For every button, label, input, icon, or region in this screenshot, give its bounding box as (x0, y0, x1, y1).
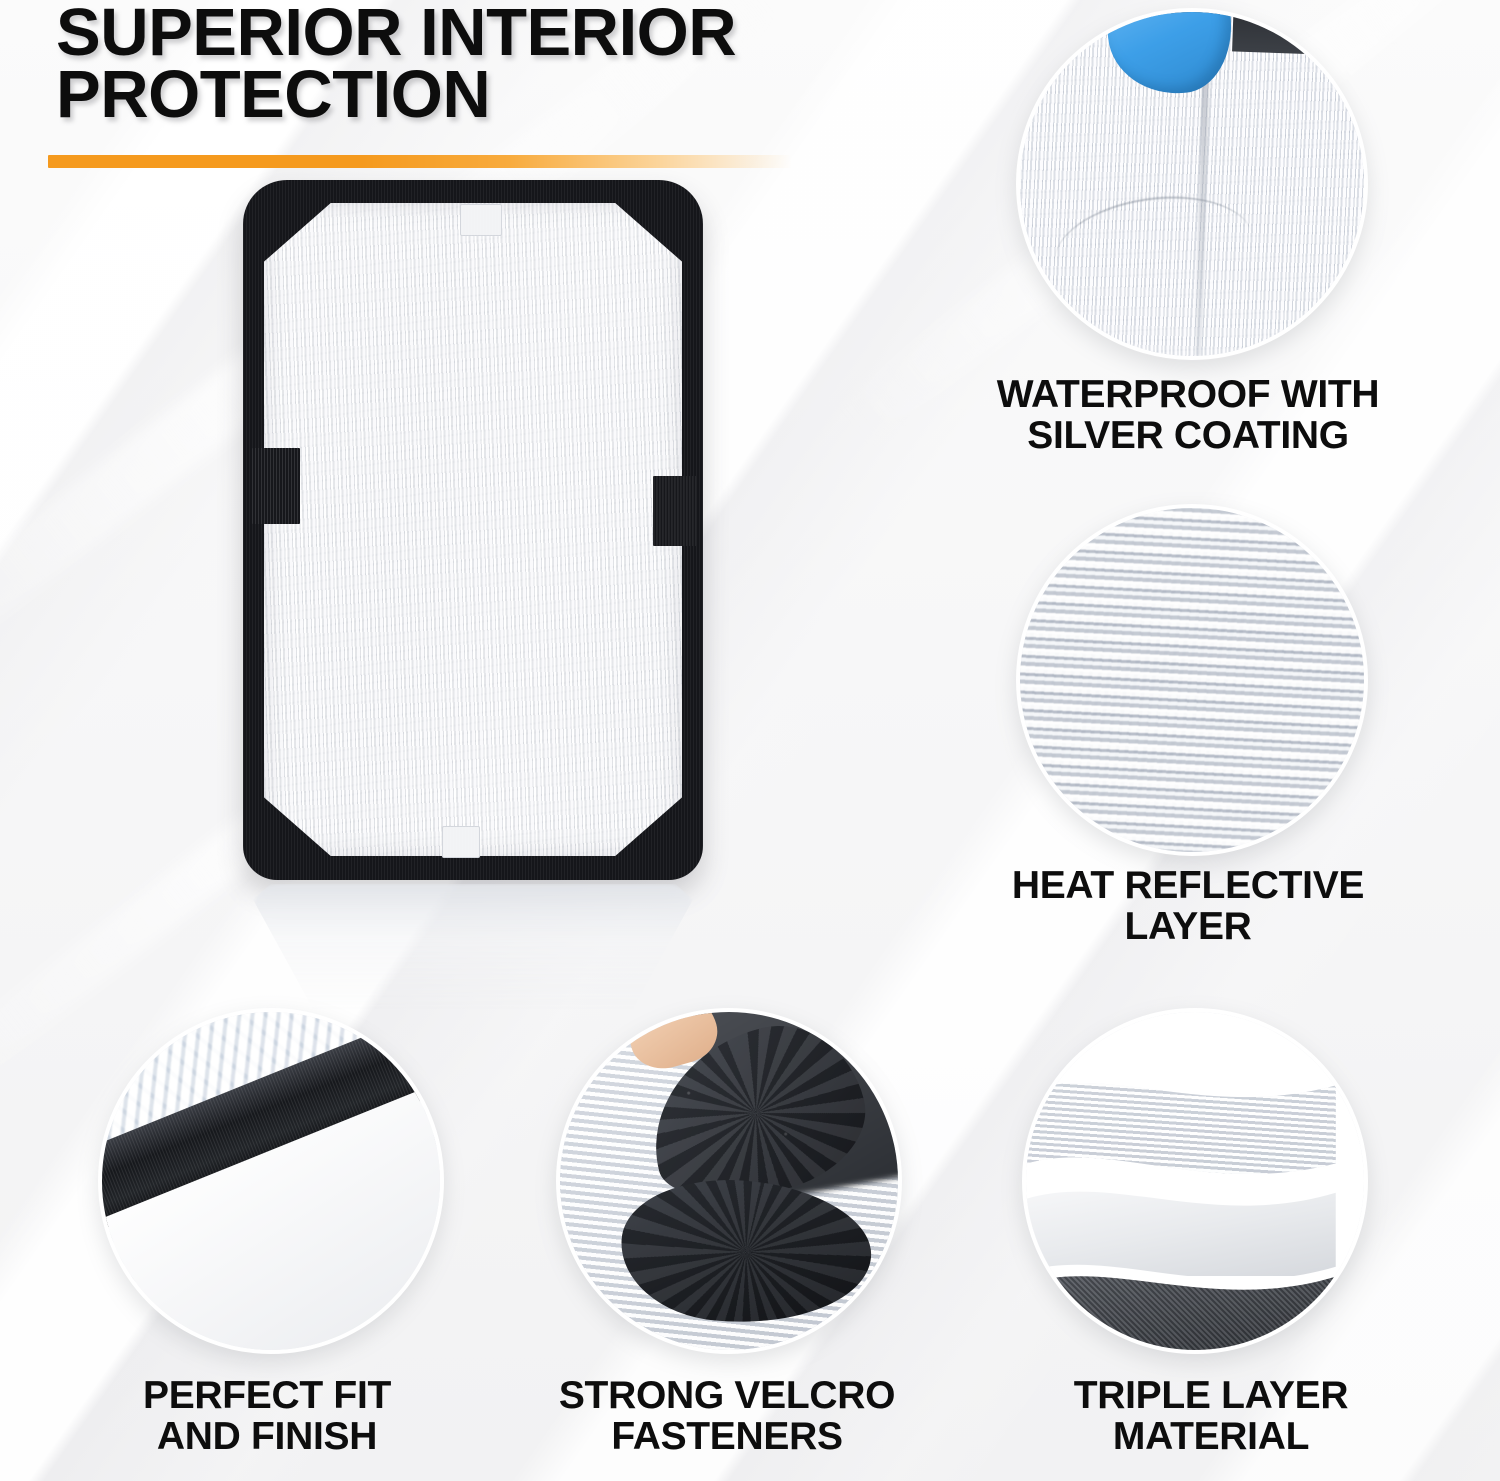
feature-caption-triple-layer: TRIPLE LAYER MATERIAL (1020, 1376, 1402, 1457)
page-title: SUPERIOR INTERIOR PROTECTION (56, 2, 936, 125)
feature-image-heat-reflective (1016, 504, 1368, 856)
feature-caption-velcro: STRONG VELCRO FASTENERS (512, 1376, 942, 1457)
sunshade-foil-panel (264, 203, 682, 856)
product-image (243, 180, 703, 880)
velcro-tab-left (252, 448, 300, 524)
page-title-line-1: SUPERIOR INTERIOR (56, 2, 936, 64)
caption-line-2: SILVER COATING (960, 416, 1416, 457)
caption-line-2: AND FINISH (60, 1417, 474, 1458)
stitch-tab-top (460, 204, 502, 236)
feature-caption-heat-reflective: HEAT REFLECTIVE LAYER (960, 866, 1416, 947)
sunshade-body (243, 180, 703, 880)
caption-line-2: FASTENERS (512, 1417, 942, 1458)
caption-line-1: TRIPLE LAYER (1020, 1376, 1402, 1417)
page-title-line-2: PROTECTION (56, 64, 936, 126)
feature-image-waterproof (1016, 8, 1368, 360)
feature-caption-perfect-fit: PERFECT FIT AND FINISH (60, 1376, 474, 1457)
title-accent-rule (48, 155, 792, 168)
caption-line-2: LAYER (960, 907, 1416, 948)
feature-image-triple-layer (1022, 1008, 1368, 1354)
crinkled-foil-texture (1016, 504, 1368, 856)
feature-image-velcro (556, 1008, 902, 1354)
caption-line-1: WATERPROOF WITH (960, 375, 1416, 416)
caption-line-1: PERFECT FIT (60, 1376, 474, 1417)
stitch-tab-bottom (442, 826, 480, 858)
feature-caption-waterproof: WATERPROOF WITH SILVER COATING (960, 375, 1416, 456)
dark-edge-region (1232, 8, 1323, 55)
caption-line-1: STRONG VELCRO (512, 1376, 942, 1417)
caption-line-1: HEAT REFLECTIVE (960, 866, 1416, 907)
feature-image-perfect-fit (98, 1008, 444, 1354)
header: SUPERIOR INTERIOR PROTECTION (56, 2, 936, 125)
caption-line-2: MATERIAL (1020, 1417, 1402, 1458)
velcro-tab-right (653, 476, 697, 546)
product-reflection (253, 884, 693, 1012)
